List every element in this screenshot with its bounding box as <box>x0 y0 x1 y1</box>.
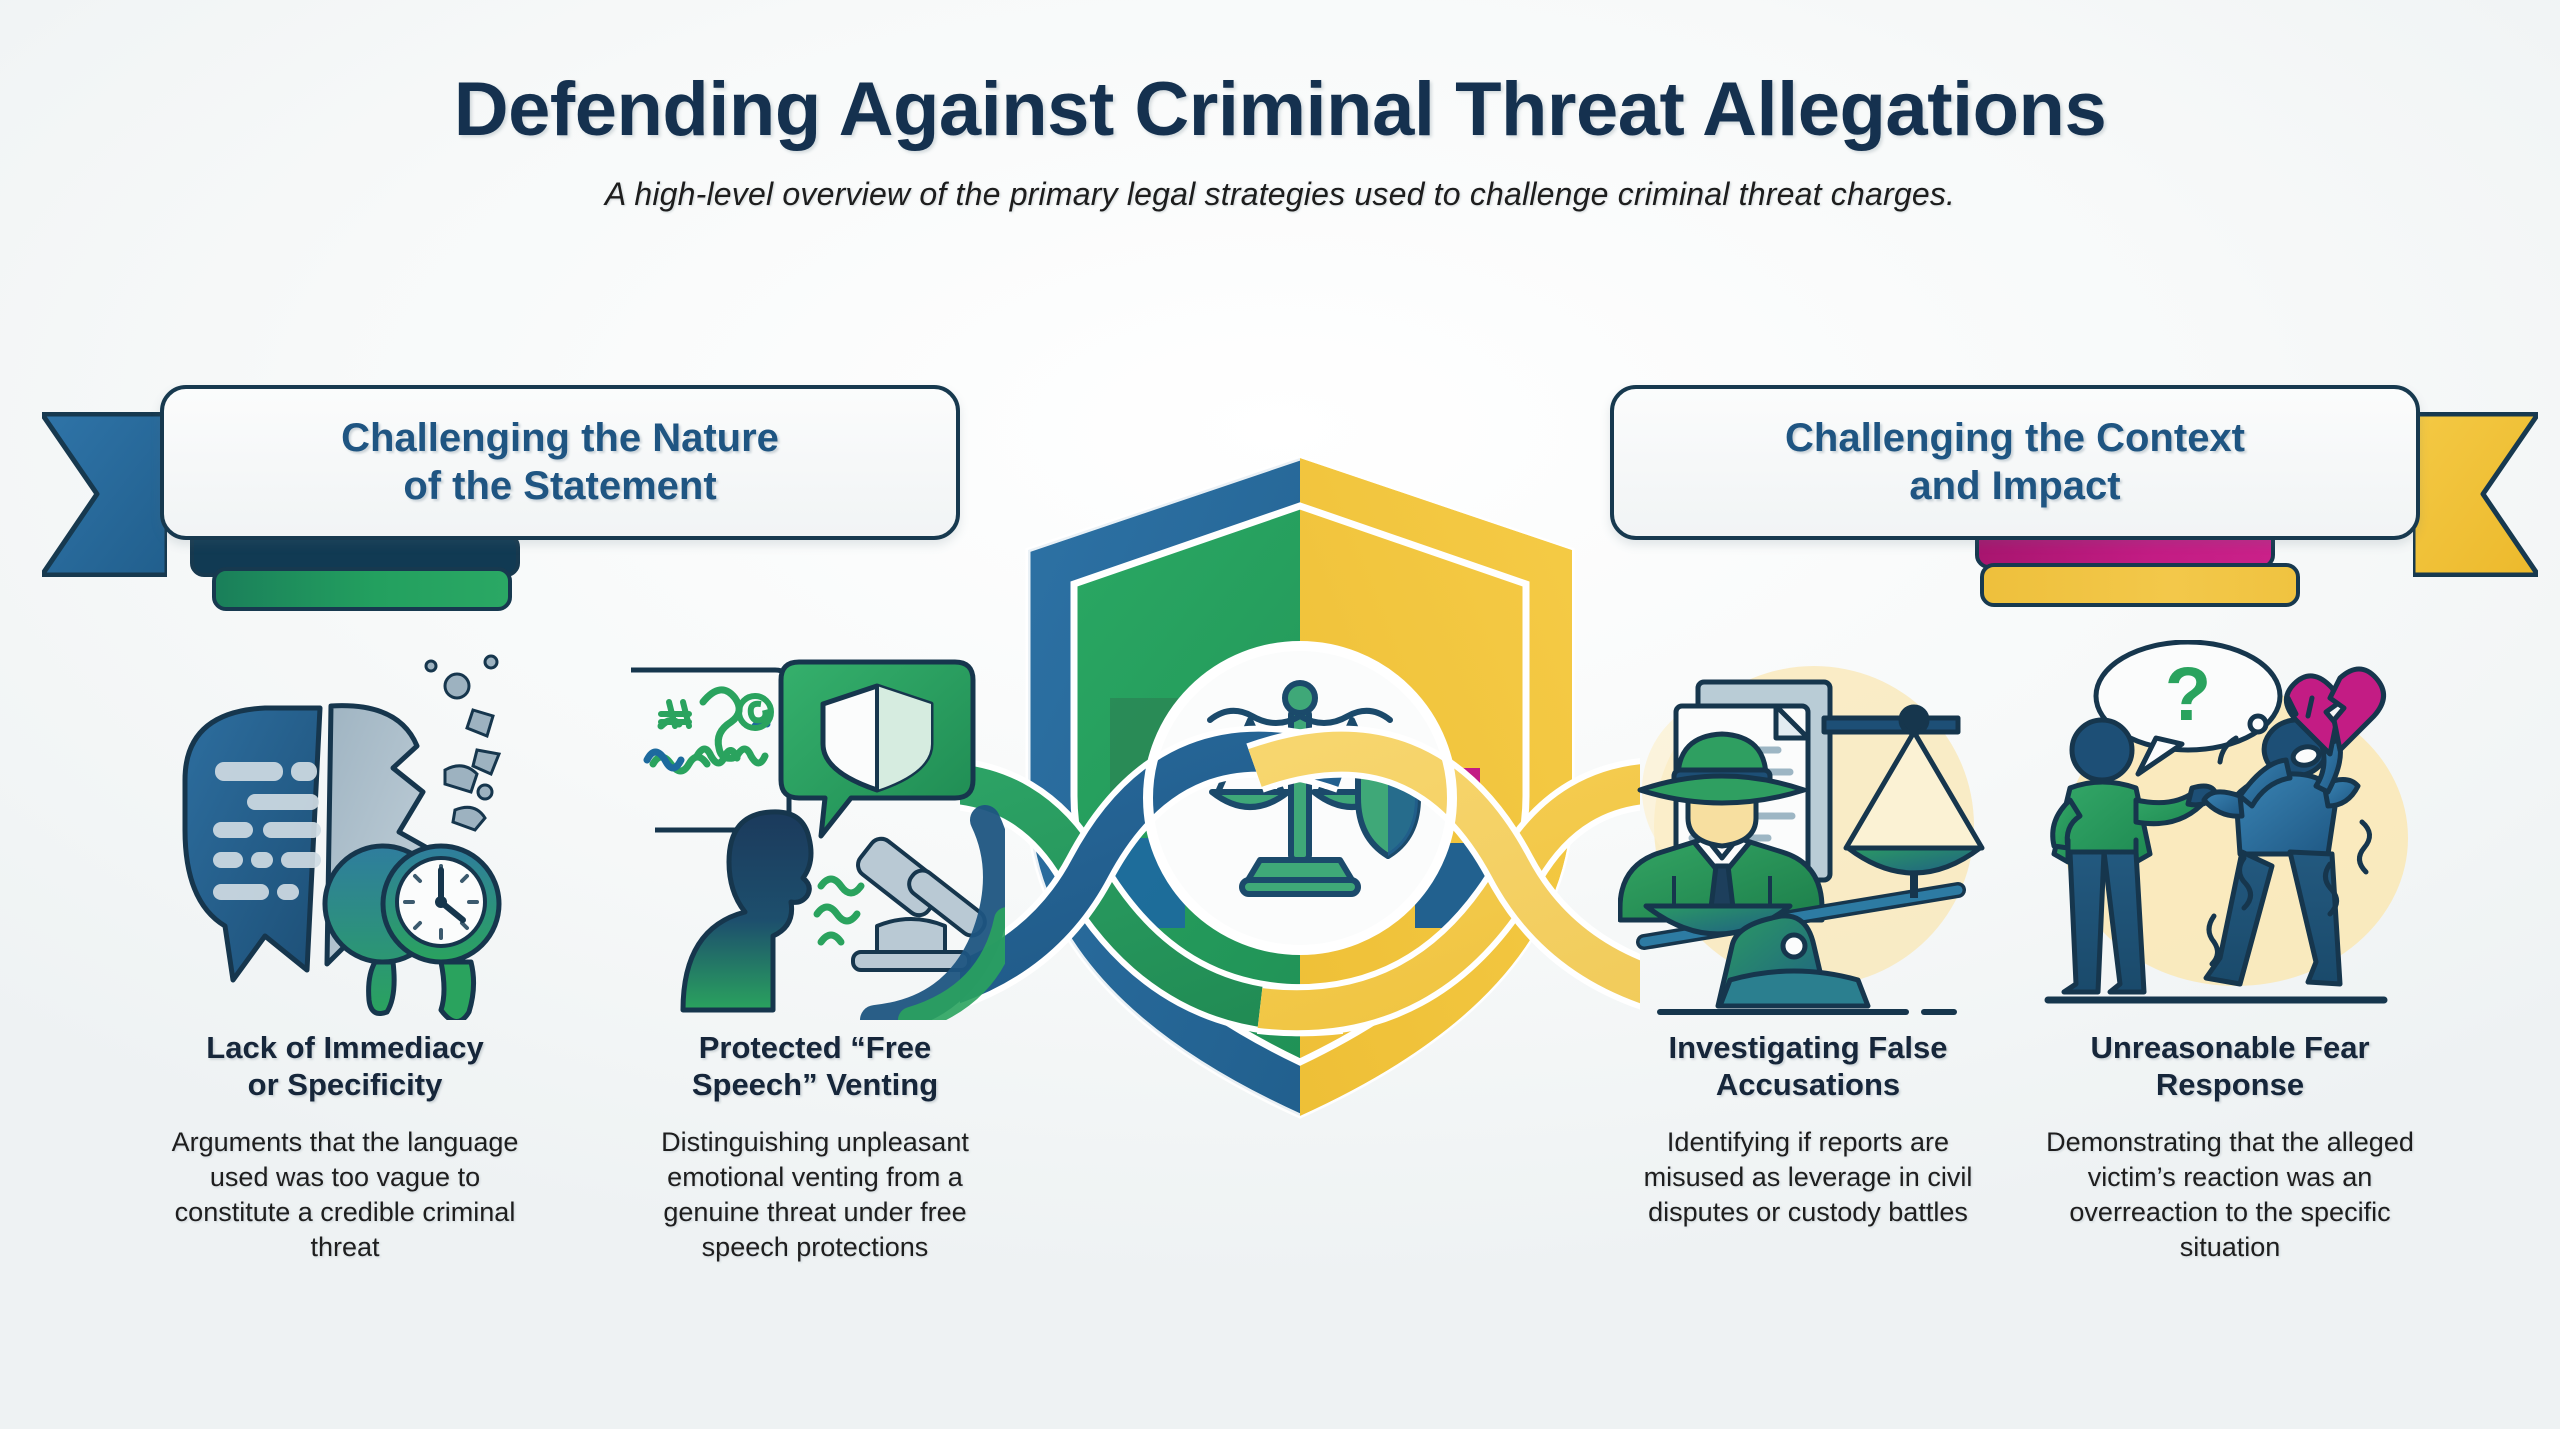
banner-right-accent-bar-yellow <box>1980 563 2300 607</box>
card-title: Investigating False Accusations <box>1618 1030 1998 1103</box>
card-description: Identifying if reports are misused as le… <box>1618 1125 1998 1230</box>
card-protected-free-speech: Protected “Free Speech” Venting Distingu… <box>625 640 1005 1266</box>
calm-person-panicked-person-icon: ? <box>2040 640 2420 1020</box>
shield-scales-emblem <box>960 398 1640 1158</box>
venting-person-shield-gavel-icon <box>625 640 1005 1020</box>
card-lack-of-immediacy: Lack of Immediacy or Specificity Argumen… <box>155 640 535 1266</box>
infographic-canvas: Defending Against Criminal Threat Allega… <box>0 0 2560 1429</box>
banner-right-label: Challenging the Context and Impact <box>1749 415 2281 509</box>
card-title: Lack of Immediacy or Specificity <box>155 1030 535 1103</box>
card-unreasonable-fear-response: ? <box>2040 640 2420 1266</box>
detective-documents-unbalanced-scale-icon <box>1618 640 1998 1020</box>
card-title: Unreasonable Fear Response <box>2040 1030 2420 1103</box>
page-title: Defending Against Criminal Threat Allega… <box>0 70 2560 150</box>
card-description: Arguments that the language used was too… <box>155 1125 535 1265</box>
question-mark-glyph: ? <box>2165 652 2211 737</box>
banner-left-plate: Challenging the Nature of the Statement <box>160 385 960 540</box>
card-investigating-false-accusations: Investigating False Accusations Identify… <box>1618 640 1998 1230</box>
banner-left-accent-bar <box>212 567 512 611</box>
ribbon-tail-right-icon <box>2413 412 2538 577</box>
banner-right-plate: Challenging the Context and Impact <box>1610 385 2420 540</box>
banner-left: Challenging the Nature of the Statement <box>160 385 960 540</box>
shield-speech-bubble-icon <box>781 662 973 836</box>
broken-speech-bubble-melting-clock-icon <box>155 640 535 1020</box>
header: Defending Against Criminal Threat Allega… <box>0 70 2560 213</box>
card-description: Demonstrating that the alleged victim’s … <box>2040 1125 2420 1265</box>
ribbon-tail-left-icon <box>42 412 167 577</box>
card-title: Protected “Free Speech” Venting <box>625 1030 1005 1103</box>
banner-right: Challenging the Context and Impact <box>1610 385 2420 540</box>
melting-clock-icon <box>325 846 499 1020</box>
page-subtitle: A high-level overview of the primary leg… <box>0 176 2560 213</box>
person-silhouette-icon <box>683 812 811 1010</box>
card-description: Distinguishing unpleasant emotional vent… <box>625 1125 1005 1265</box>
banner-left-label: Challenging the Nature of the Statement <box>305 415 815 509</box>
